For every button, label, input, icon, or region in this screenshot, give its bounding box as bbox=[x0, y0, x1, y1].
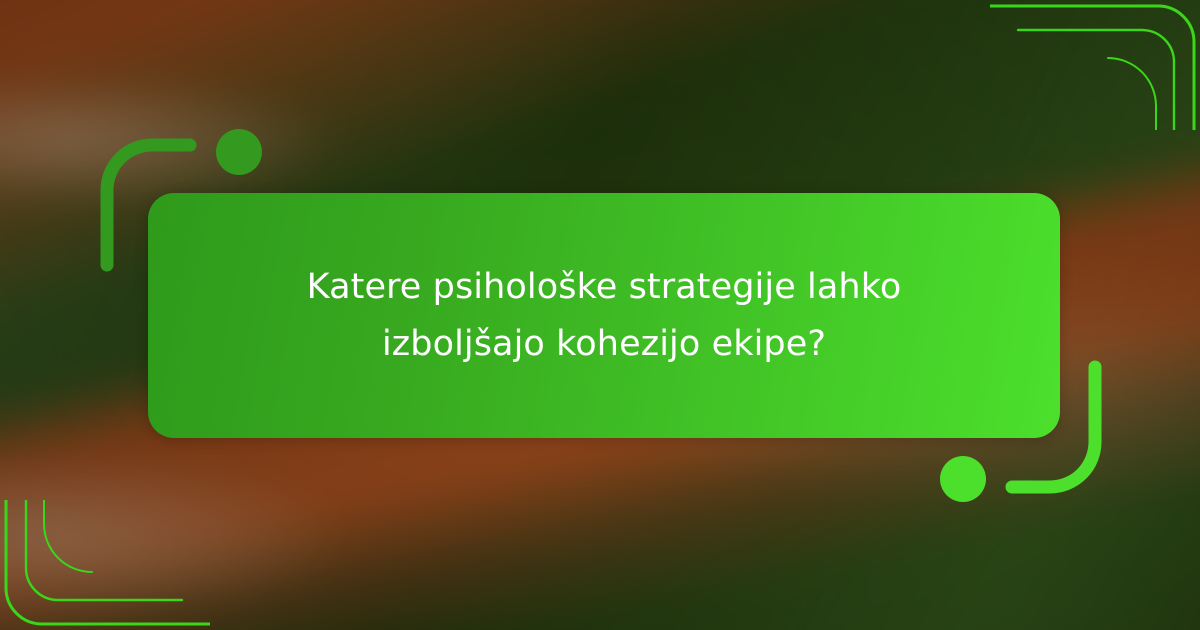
top-left-dot bbox=[216, 129, 262, 175]
bottom-right-dot bbox=[940, 456, 986, 502]
question-card: Katere psihološke strategije lahko izbol… bbox=[148, 193, 1060, 438]
social-card-canvas: Katere psihološke strategije lahko izbol… bbox=[0, 0, 1200, 630]
question-text: Katere psihološke strategije lahko izbol… bbox=[176, 259, 1032, 372]
